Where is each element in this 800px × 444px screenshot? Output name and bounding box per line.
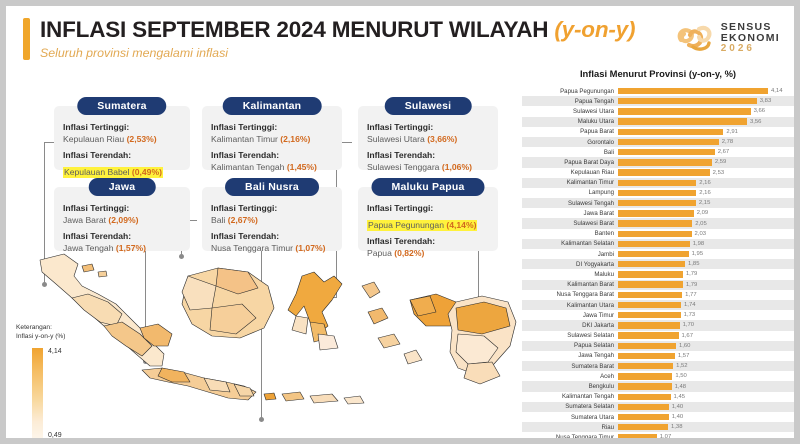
chart-row-bar-wrap: 1,45: [618, 392, 794, 402]
chart-row-bar-wrap: 1,40: [618, 412, 794, 422]
province-inflation-bar-chart: Inflasi Menurut Provinsi (y-on-y, %) Pap…: [522, 66, 794, 438]
chart-bar-value: 3,83: [760, 98, 771, 104]
chart-row-bar-wrap: 2,16: [618, 178, 794, 188]
chart-row: Gorontalo2,78: [522, 137, 794, 147]
chart-row-bar-wrap: 1,85: [618, 259, 794, 269]
chart-row-label: Maluku Utara: [522, 118, 618, 125]
chart-bar-value: 1,50: [675, 373, 686, 379]
card-jawa-highest-value: Jawa Barat (2,09%): [63, 215, 181, 227]
card-sulawesi-lowest-label: Inflasi Terendah:: [367, 150, 489, 162]
chart-bar-value: 2,53: [713, 170, 724, 176]
chart-bar: [618, 424, 668, 430]
chart-row-label: Sulawesi Utara: [522, 108, 618, 115]
chart-row: Maluku Utara3,56: [522, 117, 794, 127]
chart-bar-value: 2,16: [699, 180, 710, 186]
chart-row-label: Nusa Tenggara Timur: [522, 434, 618, 438]
card-kalimantan-lowest-value: Kalimantan Tengah (1,45%): [211, 162, 333, 174]
chart-row: Sulawesi Utara3,66: [522, 106, 794, 116]
chart-bar-value: 1,73: [684, 312, 695, 318]
chart-row: Kalimantan Selatan1,98: [522, 239, 794, 249]
logo: SENSUS EKONOMI 2026: [675, 18, 780, 58]
chart-bar-value: 1,38: [671, 424, 682, 430]
chart-row: Sulawesi Tengah2,15: [522, 198, 794, 208]
chart-bar-value: 1,95: [692, 251, 703, 257]
chart-row: Nusa Tenggara Timur1,07: [522, 432, 794, 438]
card-sumatera-lowest-label: Inflasi Terendah:: [63, 150, 181, 162]
card-sumatera-highest-value: Kepulauan Riau (2,53%): [63, 134, 181, 146]
chart-row: Maluku1,79: [522, 269, 794, 279]
chart-bar-value: 2,59: [715, 159, 726, 165]
card-jawa-highest-label: Inflasi Tertinggi:: [63, 203, 181, 215]
card-kalimantan-highest-label: Inflasi Tertinggi:: [211, 122, 333, 134]
chart-row-bar-wrap: 2,91: [618, 127, 794, 137]
card-kalimantan-highest-value: Kalimantan Timur (2,16%): [211, 134, 333, 146]
card-maluku-papua-title: Maluku Papua: [372, 178, 485, 196]
chart-row-bar-wrap: 1,98: [618, 239, 794, 249]
chart-row: Jawa Barat2,09: [522, 208, 794, 218]
chart-row: Lampung2,16: [522, 188, 794, 198]
chart-bar-value: 1,79: [686, 282, 697, 288]
chart-row: Sumatera Selatan1,40: [522, 402, 794, 412]
chart-row-label: Kalimantan Timur: [522, 179, 618, 186]
chart-bar: [618, 220, 692, 226]
chart-row-bar-wrap: 2,78: [618, 137, 794, 147]
chart-bar: [618, 98, 757, 104]
chart-row-bar-wrap: 2,16: [618, 188, 794, 198]
chart-row-bar-wrap: 4,14: [618, 86, 794, 96]
chart-row: Kalimantan Timur2,16: [522, 178, 794, 188]
card-sumatera[interactable]: Sumatera Inflasi Tertinggi: Kepulauan Ri…: [54, 106, 190, 170]
chart-row-label: Jawa Tengah: [522, 352, 618, 359]
chart-bar-value: 1,67: [682, 333, 693, 339]
chart-row-label: Papua Barat: [522, 128, 618, 135]
chart-bar: [618, 180, 696, 186]
chart-row-bar-wrap: 2,05: [618, 218, 794, 228]
card-sumatera-lowest-value: Kepulauan Babel (0,49%): [63, 167, 163, 179]
logo-line-3: 2026: [721, 44, 780, 54]
chart-bar: [618, 159, 712, 165]
chart-row-bar-wrap: 2,15: [618, 198, 794, 208]
page-title-accent: (y-on-y): [554, 17, 635, 42]
chart-bar-value: 2,78: [722, 139, 733, 145]
chart-row-bar-wrap: 1,79: [618, 269, 794, 279]
sensus-ekonomi-logo-icon: [675, 21, 715, 55]
chart-bar-value: 1,98: [693, 241, 704, 247]
chart-bar: [618, 404, 669, 410]
card-kalimantan-title: Kalimantan: [223, 97, 322, 115]
card-kalimantan[interactable]: Kalimantan Inflasi Tertinggi: Kalimantan…: [202, 106, 342, 170]
chart-row: Papua Barat Daya2,59: [522, 157, 794, 167]
chart-row-label: Banten: [522, 230, 618, 237]
screenshot-frame: INFLASI SEPTEMBER 2024 MENURUT WILAYAH (…: [0, 0, 800, 444]
chart-bar: [618, 414, 669, 420]
chart-row-bar-wrap: 1,95: [618, 249, 794, 259]
chart-bar-value: 1,48: [675, 384, 686, 390]
chart-bar: [618, 200, 696, 206]
chart-bar: [618, 169, 710, 175]
chart-row: Aceh1,50: [522, 371, 794, 381]
chart-row-label: Papua Pegunungan: [522, 88, 618, 95]
card-kalimantan-body: Inflasi Tertinggi: Kalimantan Timur (2,1…: [202, 106, 342, 186]
card-jawa-title: Jawa: [89, 178, 156, 196]
chart-row-label: Sumatera Selatan: [522, 403, 618, 410]
card-bali-nusra-highest-label: Inflasi Tertinggi:: [211, 203, 333, 215]
logo-text: SENSUS EKONOMI 2026: [721, 22, 780, 54]
chart-row-bar-wrap: 2,53: [618, 168, 794, 178]
chart-bar-value: 1,52: [676, 363, 687, 369]
chart-row: Kalimantan Tengah1,45: [522, 392, 794, 402]
chart-row-bar-wrap: 1,07: [618, 432, 794, 438]
page-subtitle: Seluruh provinsi mengalami inflasi: [40, 46, 228, 60]
chart-row-label: Aceh: [522, 373, 618, 380]
chart-row: Jambi1,95: [522, 249, 794, 259]
chart-row-label: DKI Jakarta: [522, 322, 618, 329]
header: INFLASI SEPTEMBER 2024 MENURUT WILAYAH (…: [6, 6, 794, 68]
chart-row: Sumatera Utara1,40: [522, 412, 794, 422]
infographic-slide: INFLASI SEPTEMBER 2024 MENURUT WILAYAH (…: [6, 6, 794, 438]
chart-row-label: Sumatera Barat: [522, 363, 618, 370]
chart-title: Inflasi Menurut Provinsi (y-on-y, %): [522, 68, 794, 79]
chart-row-label: Kalimantan Barat: [522, 281, 618, 288]
chart-row: Papua Selatan1,60: [522, 341, 794, 351]
chart-row-label: Gorontalo: [522, 139, 618, 146]
chart-row-bar-wrap: 1,70: [618, 320, 794, 330]
chart-bar: [618, 343, 676, 349]
chart-row-label: Jawa Timur: [522, 312, 618, 319]
chart-row-label: Bengkulu: [522, 383, 618, 390]
chart-row: DKI Jakarta1,70: [522, 320, 794, 330]
card-sulawesi-lowest-value: Sulawesi Tenggara (1,06%): [367, 162, 489, 174]
chart-bar: [618, 302, 681, 308]
chart-bar-value: 2,09: [697, 210, 708, 216]
chart-row: Kepulauan Riau2,53: [522, 168, 794, 178]
chart-bar-value: 1,07: [660, 434, 671, 438]
chart-row-label: Papua Barat Daya: [522, 159, 618, 166]
chart-bar: [618, 373, 672, 379]
card-bali-nusra-title: Bali Nusra: [225, 178, 319, 196]
chart-bar: [618, 312, 681, 318]
chart-row-label: Sumatera Utara: [522, 414, 618, 421]
chart-row: Papua Tengah3,83: [522, 96, 794, 106]
chart-bar: [618, 322, 680, 328]
chart-bar: [618, 292, 682, 298]
header-accent-bar: [23, 18, 30, 60]
logo-line-2: EKONOMI: [721, 33, 780, 44]
chart-row-bar-wrap: 1,79: [618, 280, 794, 290]
chart-bar-value: 2,91: [726, 129, 737, 135]
chart-bar-value: 1,40: [672, 414, 683, 420]
chart-bar-value: 1,74: [684, 302, 695, 308]
chart-bar-value: 1,85: [688, 261, 699, 267]
chart-row-bar-wrap: 1,48: [618, 381, 794, 391]
chart-bar: [618, 149, 715, 155]
chart-row-label: Nusa Tenggara Barat: [522, 291, 618, 298]
chart-row-bar-wrap: 1,50: [618, 371, 794, 381]
chart-bar: [618, 108, 751, 114]
chart-row-bar-wrap: 1,60: [618, 341, 794, 351]
chart-row: Bali2,67: [522, 147, 794, 157]
card-sulawesi-highest-value: Sulawesi Utara (3,66%): [367, 134, 489, 146]
chart-row-label: Kalimantan Tengah: [522, 393, 618, 400]
card-sulawesi[interactable]: Sulawesi Inflasi Tertinggi: Sulawesi Uta…: [358, 106, 498, 170]
card-sulawesi-title: Sulawesi: [385, 97, 472, 115]
chart-row: DI Yogyakarta1,85: [522, 259, 794, 269]
chart-row: Papua Pegunungan4,14: [522, 86, 794, 96]
chart-bar-value: 3,66: [754, 108, 765, 114]
chart-bar-value: 1,77: [685, 292, 696, 298]
chart-row: Papua Barat2,91: [522, 127, 794, 137]
card-kalimantan-lowest-label: Inflasi Terendah:: [211, 150, 333, 162]
chart-row: Sumatera Barat1,52: [522, 361, 794, 371]
chart-row-bar-wrap: 2,67: [618, 147, 794, 157]
chart-row: Jawa Tengah1,57: [522, 351, 794, 361]
chart-bar: [618, 241, 690, 247]
chart-row-bar-wrap: 1,73: [618, 310, 794, 320]
chart-bar: [618, 88, 768, 94]
chart-bar-value: 2,15: [699, 200, 710, 206]
chart-bar: [618, 210, 694, 216]
chart-row-label: Papua Selatan: [522, 342, 618, 349]
chart-row: Jawa Timur1,73: [522, 310, 794, 320]
card-sulawesi-body: Inflasi Tertinggi: Sulawesi Utara (3,66%…: [358, 106, 498, 186]
chart-row-bar-wrap: 1,52: [618, 361, 794, 371]
chart-row-label: Sulawesi Selatan: [522, 332, 618, 339]
card-sumatera-title: Sumatera: [77, 97, 166, 115]
chart-row: Bengkulu1,48: [522, 381, 794, 391]
chart-bar: [618, 129, 723, 135]
chart-bar-value: 2,67: [718, 149, 729, 155]
chart-bar-value: 2,03: [695, 231, 706, 237]
chart-bar: [618, 332, 679, 338]
legend-max-value: 4,14: [48, 348, 62, 355]
chart-rows: Papua Pegunungan4,14Papua Tengah3,83Sula…: [522, 86, 794, 438]
chart-bar: [618, 353, 675, 359]
chart-row-bar-wrap: 2,59: [618, 157, 794, 167]
chart-bar: [618, 261, 685, 267]
card-sumatera-highest-label: Inflasi Tertinggi:: [63, 122, 181, 134]
chart-row-bar-wrap: 2,03: [618, 229, 794, 239]
page-title-main: INFLASI SEPTEMBER 2024 MENURUT WILAYAH: [40, 17, 548, 42]
chart-row-label: Kalimantan Utara: [522, 302, 618, 309]
chart-row-bar-wrap: 2,09: [618, 208, 794, 218]
chart-row-label: Jambi: [522, 251, 618, 258]
chart-row-bar-wrap: 1,67: [618, 331, 794, 341]
card-maluku-papua-highest-label: Inflasi Tertinggi:: [367, 203, 489, 215]
chart-row: Sulawesi Barat2,05: [522, 218, 794, 228]
chart-row-bar-wrap: 3,66: [618, 106, 794, 116]
chart-bar: [618, 118, 747, 124]
chart-bar: [618, 363, 673, 369]
chart-row-label: Kalimantan Selatan: [522, 240, 618, 247]
chart-bar: [618, 139, 719, 145]
chart-row-label: DI Yogyakarta: [522, 261, 618, 268]
chart-bar: [618, 394, 671, 400]
chart-bar: [618, 383, 672, 389]
chart-row-bar-wrap: 1,38: [618, 422, 794, 432]
chart-row-label: Papua Tengah: [522, 98, 618, 105]
chart-row-bar-wrap: 1,74: [618, 300, 794, 310]
chart-row-bar-wrap: 1,77: [618, 290, 794, 300]
chart-bar-value: 1,40: [672, 404, 683, 410]
chart-bar: [618, 281, 683, 287]
chart-row-bar-wrap: 1,40: [618, 402, 794, 412]
chart-bar-value: 2,05: [695, 221, 706, 227]
legend-title-line1: Keterangan:: [16, 324, 90, 333]
chart-bar: [618, 251, 689, 257]
chart-bar-value: 1,70: [683, 322, 694, 328]
chart-row: Nusa Tenggara Barat1,77: [522, 290, 794, 300]
chart-bar: [618, 190, 696, 196]
chart-bar-value: 1,57: [678, 353, 689, 359]
chart-row: Sulawesi Selatan1,67: [522, 331, 794, 341]
chart-title-text: Inflasi Menurut Provinsi (y-on-y, %): [580, 68, 736, 79]
chart-row: Kalimantan Barat1,79: [522, 280, 794, 290]
chart-bar-value: 4,14: [771, 88, 782, 94]
card-maluku-papua-highest-value: Papua Pegunungan (4,14%): [367, 220, 477, 232]
chart-bar: [618, 434, 657, 438]
page-title: INFLASI SEPTEMBER 2024 MENURUT WILAYAH (…: [40, 17, 635, 43]
map-legend: Keterangan: Inflasi y-on-y (%) 4,14 0,49: [16, 324, 90, 342]
chart-row-label: Sulawesi Barat: [522, 220, 618, 227]
chart-bar: [618, 271, 683, 277]
chart-row-label: Riau: [522, 424, 618, 431]
chart-row-label: Kepulauan Riau: [522, 169, 618, 176]
chart-row-label: Sulawesi Tengah: [522, 200, 618, 207]
chart-bar-value: 1,45: [674, 394, 685, 400]
card-sulawesi-highest-label: Inflasi Tertinggi:: [367, 122, 489, 134]
chart-bar-value: 1,79: [686, 271, 697, 277]
legend-color-ramp: [32, 348, 43, 438]
chart-bar-value: 2,16: [699, 190, 710, 196]
card-bali-nusra-highest-value: Bali (2,67%): [211, 215, 333, 227]
chart-bar-value: 1,60: [679, 343, 690, 349]
chart-row-label: Lampung: [522, 189, 618, 196]
chart-row-bar-wrap: 3,83: [618, 96, 794, 106]
chart-row-bar-wrap: 1,57: [618, 351, 794, 361]
chart-row: Banten2,03: [522, 229, 794, 239]
legend-title-line2: Inflasi y-on-y (%): [16, 333, 90, 342]
chart-row-label: Maluku: [522, 271, 618, 278]
chart-row-bar-wrap: 3,56: [618, 117, 794, 127]
chart-row-label: Bali: [522, 149, 618, 156]
chart-row: Riau1,38: [522, 422, 794, 432]
chart-row: Kalimantan Utara1,74: [522, 300, 794, 310]
chart-bar: [618, 231, 692, 237]
legend-min-value: 0,49: [48, 432, 62, 438]
chart-bar-value: 3,56: [750, 119, 761, 125]
chart-row-label: Jawa Barat: [522, 210, 618, 217]
